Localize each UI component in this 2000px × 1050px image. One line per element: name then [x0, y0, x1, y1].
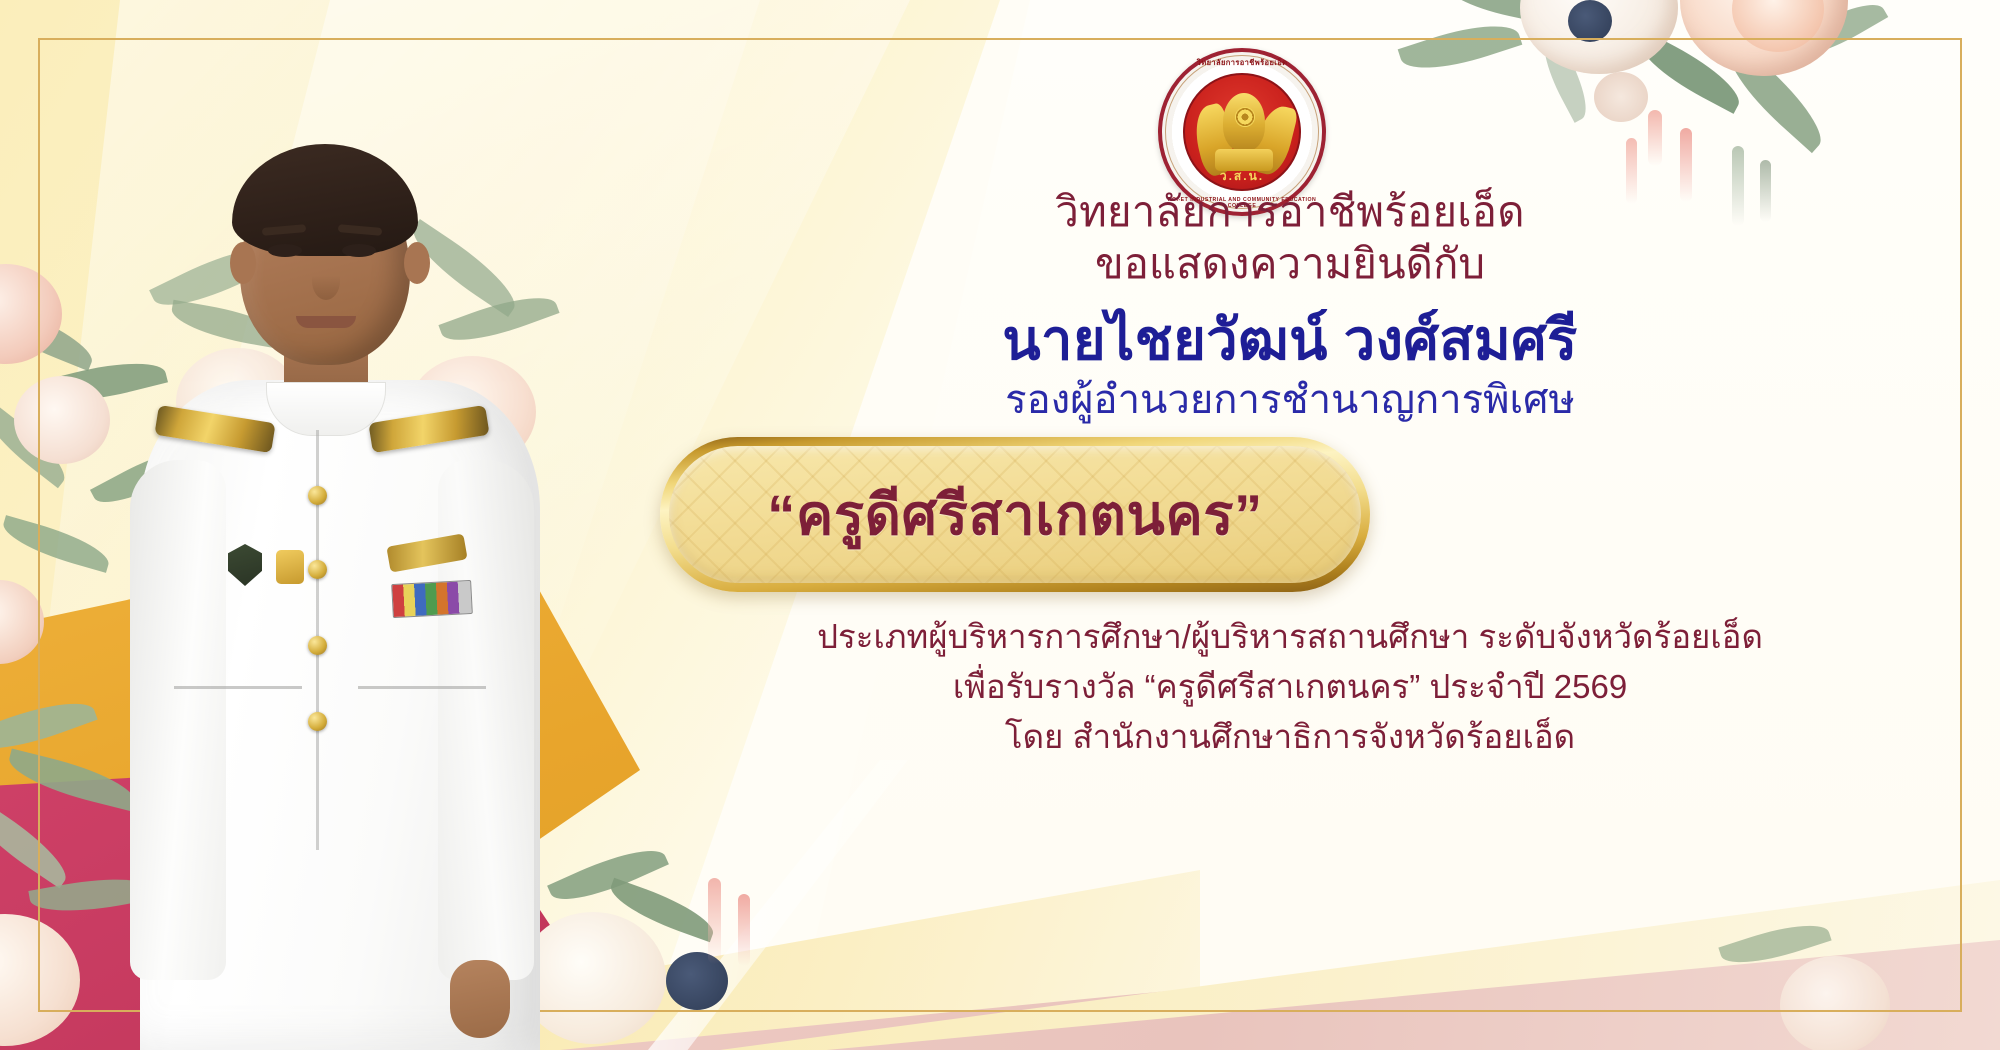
portrait-eye-left	[268, 244, 302, 257]
award-description: ประเภทผู้บริหารการศึกษา/ผู้บริหารสถานศึก…	[620, 612, 1960, 762]
uniform-pocket-right	[358, 686, 486, 689]
award-title: “ครูดีศรีสาเกตนคร”	[767, 470, 1262, 559]
uniform-badge-gold	[276, 550, 304, 584]
uniform-sleeve-left	[130, 460, 226, 980]
portrait-ear-right	[404, 242, 430, 284]
banner-content: วิทยาลัยการอาชีพร้อยเอ็ด ขอแสดงความยินดี…	[620, 0, 1960, 1050]
honoree-name: นายไชยวัฒน์ วงศ์สมศรี	[620, 306, 1960, 374]
honoree-position: รองผู้อำนวยการชำนาญการพิเศษ	[620, 376, 1960, 426]
congratulations-banner: วิทยาลัยการอาชีพร้อยเอ็ด ROI-ET INDUSTRI…	[0, 0, 2000, 1050]
organization-name: วิทยาลัยการอาชีพร้อยเอ็ด	[620, 186, 1960, 238]
uniform-service-ribbons	[391, 580, 473, 618]
uniform-button	[308, 636, 327, 655]
award-description-line-2: เพื่อรับรางวัล “ครูดีศรีสาเกตนคร” ประจำป…	[620, 662, 1960, 712]
honoree-portrait	[120, 130, 550, 1050]
uniform-button	[308, 712, 327, 731]
portrait-nose	[312, 262, 340, 300]
portrait-ear-left	[230, 242, 256, 284]
award-plaque-inner: “ครูดีศรีสาเกตนคร”	[669, 446, 1361, 583]
uniform-pocket-left	[174, 686, 302, 689]
portrait-mouth	[296, 316, 356, 328]
award-description-line-1: ประเภทผู้บริหารการศึกษา/ผู้บริหารสถานศึก…	[620, 612, 1960, 662]
award-plaque: “ครูดีศรีสาเกตนคร”	[660, 437, 1370, 592]
portrait-hand	[450, 960, 510, 1038]
portrait-eye-right	[342, 244, 376, 257]
congratulation-line: ขอแสดงความยินดีกับ	[620, 238, 1960, 290]
portrait-hair	[232, 144, 418, 256]
award-description-line-3: โดย สำนักงานศึกษาธิการจังหวัดร้อยเอ็ด	[620, 712, 1960, 762]
uniform-button	[308, 560, 327, 579]
uniform-button	[308, 486, 327, 505]
